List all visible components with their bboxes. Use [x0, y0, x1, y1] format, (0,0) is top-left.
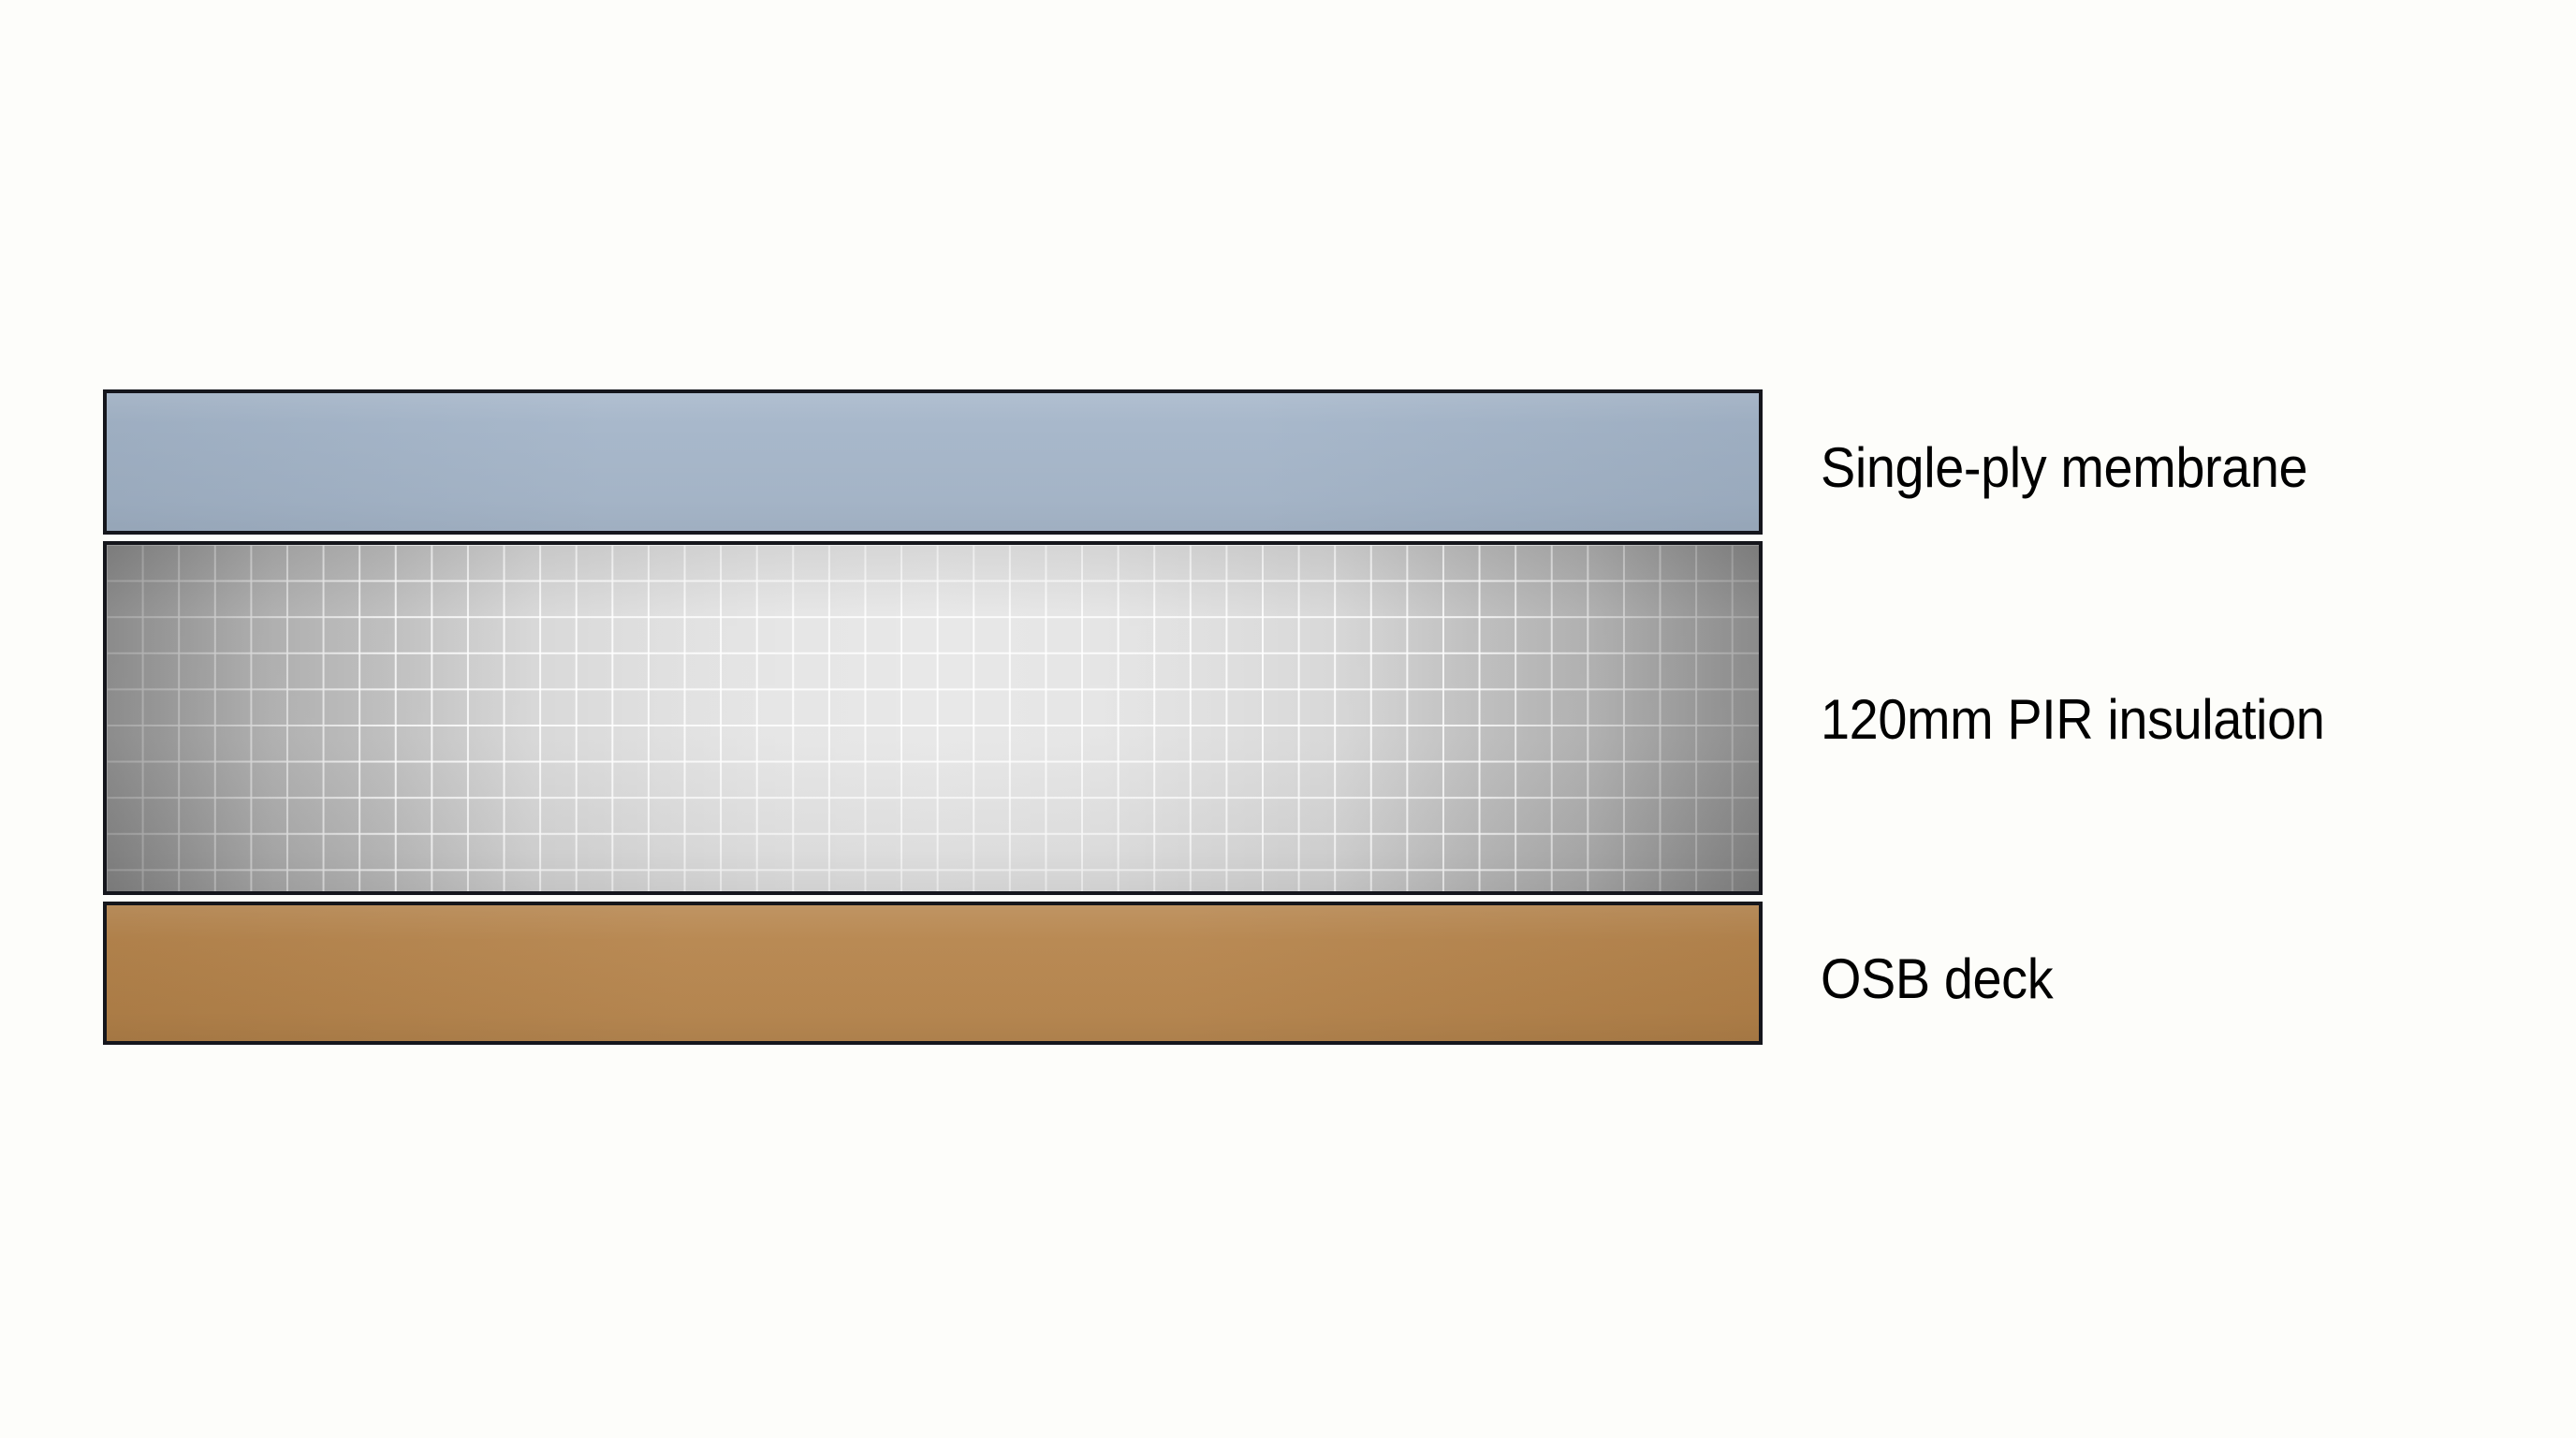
layer-label-membrane: Single-ply membrane	[1821, 440, 2307, 496]
layer-rect-insulation[interactable]	[103, 541, 1763, 895]
layer-rect-osb-deck[interactable]	[103, 902, 1763, 1045]
roof-buildup-diagram: Single-ply membrane 120mm PIR insulation…	[0, 0, 2576, 1438]
layer-label-osb-deck: OSB deck	[1821, 951, 2053, 1007]
insulation-vertical-shading	[107, 545, 1759, 891]
layer-label-insulation: 120mm PIR insulation	[1821, 692, 2324, 748]
layer-rect-membrane[interactable]	[103, 389, 1763, 535]
